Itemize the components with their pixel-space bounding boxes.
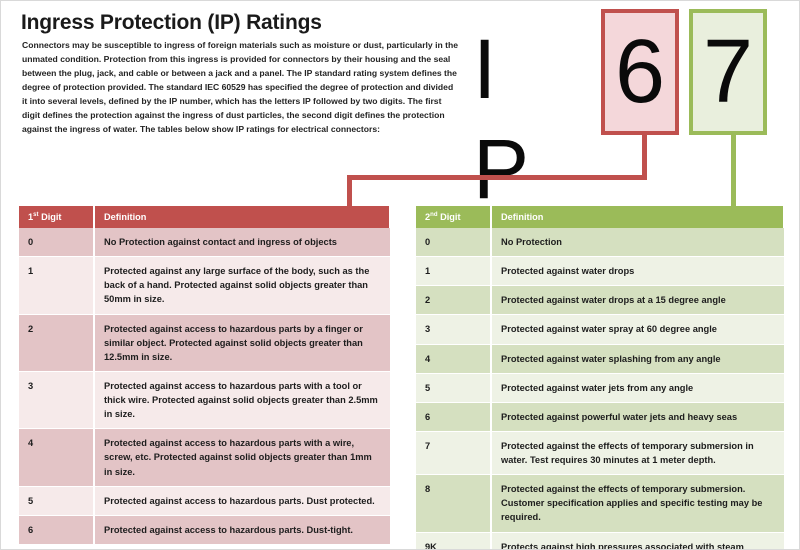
table-row: 6Protected against access to hazardous p…	[19, 515, 390, 544]
table-row: 3Protected against water spray at 60 deg…	[416, 315, 784, 344]
header-definition: Definition	[94, 206, 390, 228]
first-digit-table-body: 0No Protection against contact and ingre…	[19, 228, 390, 544]
row-digit: 6	[416, 402, 491, 431]
row-definition: Protected against access to hazardous pa…	[94, 314, 390, 371]
row-definition: No Protection against contact and ingres…	[94, 228, 390, 257]
row-definition: Protected against access to hazardous pa…	[94, 371, 390, 428]
row-definition: Protected against water spray at 60 degr…	[491, 315, 784, 344]
header-definition: Definition	[491, 206, 784, 228]
row-digit: 5	[19, 486, 94, 515]
first-digit-table: 1st Digit Definition 0No Protection agai…	[19, 206, 391, 545]
row-digit: 8	[416, 475, 491, 532]
table-header-row: 1st Digit Definition	[19, 206, 390, 228]
row-digit: 9K	[416, 532, 491, 550]
row-definition: Protected against access to hazardous pa…	[94, 515, 390, 544]
ip-ratings-page: Ingress Protection (IP) Ratings Connecto…	[0, 0, 800, 550]
table-row: 2Protected against water drops at a 15 d…	[416, 286, 784, 315]
table-row: 8Protected against the effects of tempor…	[416, 475, 784, 532]
row-definition: Protected against water jets from any an…	[491, 373, 784, 402]
row-digit: 3	[19, 371, 94, 428]
row-definition: Protects against high pressures associat…	[491, 532, 784, 550]
table-row: 3Protected against access to hazardous p…	[19, 371, 390, 428]
table-row: 4Protected against water splashing from …	[416, 344, 784, 373]
header-first-digit: 1st Digit	[19, 206, 94, 228]
row-digit: 1	[416, 257, 491, 286]
row-definition: Protected against water drops at a 15 de…	[491, 286, 784, 315]
row-digit: 4	[416, 344, 491, 373]
second-digit-value: 7	[703, 27, 753, 117]
header-digit-word: Digit	[438, 212, 461, 222]
row-digit: 1	[19, 257, 94, 314]
header-second-digit: 2nd Digit	[416, 206, 491, 228]
table-row: 9KProtects against high pressures associ…	[416, 532, 784, 550]
table-row: 6Protected against powerful water jets a…	[416, 402, 784, 431]
table-row: 7Protected against the effects of tempor…	[416, 431, 784, 474]
row-definition: No Protection	[491, 228, 784, 257]
row-digit: 0	[19, 228, 94, 257]
row-definition: Protected against any large surface of t…	[94, 257, 390, 314]
row-digit: 4	[19, 429, 94, 486]
row-digit: 7	[416, 431, 491, 474]
row-definition: Protected against powerful water jets an…	[491, 402, 784, 431]
row-definition: Protected against access to hazardous pa…	[94, 429, 390, 486]
connector-line-red-vertical-bottom	[347, 175, 352, 208]
table-row: 1Protected against any large surface of …	[19, 257, 390, 314]
row-definition: Protected against access to hazardous pa…	[94, 486, 390, 515]
row-digit: 2	[416, 286, 491, 315]
page-title: Ingress Protection (IP) Ratings	[21, 11, 322, 35]
row-definition: Protected against water drops	[491, 257, 784, 286]
row-definition: Protected against the effects of tempora…	[491, 475, 784, 532]
table-row: 5Protected against access to hazardous p…	[19, 486, 390, 515]
connector-line-red-vertical-top	[642, 135, 647, 180]
table-row: 1Protected against water drops	[416, 257, 784, 286]
second-digit-box: 7	[689, 9, 767, 135]
table-row: 0No Protection	[416, 228, 784, 257]
row-digit: 5	[416, 373, 491, 402]
table-row: 0No Protection against contact and ingre…	[19, 228, 390, 257]
row-digit: 6	[19, 515, 94, 544]
table-row: 2Protected against access to hazardous p…	[19, 314, 390, 371]
connector-line-red-horizontal	[347, 175, 647, 180]
row-digit: 0	[416, 228, 491, 257]
connector-line-green-vertical	[731, 135, 736, 209]
first-digit-box: 6	[601, 9, 679, 135]
row-definition: Protected against the effects of tempora…	[491, 431, 784, 474]
row-digit: 3	[416, 315, 491, 344]
second-digit-table: 2nd Digit Definition 0No Protection 1Pro…	[416, 206, 785, 550]
table-row: 5Protected against water jets from any a…	[416, 373, 784, 402]
intro-paragraph: Connectors may be susceptible to ingress…	[22, 39, 460, 136]
header-digit-word: Digit	[39, 212, 62, 222]
row-digit: 2	[19, 314, 94, 371]
table-header-row: 2nd Digit Definition	[416, 206, 784, 228]
second-digit-table-body: 0No Protection 1Protected against water …	[416, 228, 784, 550]
ip-prefix-letters: I P	[473, 19, 541, 219]
header-digit-ordinal: nd	[430, 212, 437, 218]
first-digit-value: 6	[615, 27, 665, 117]
table-row: 4Protected against access to hazardous p…	[19, 429, 390, 486]
row-definition: Protected against water splashing from a…	[491, 344, 784, 373]
